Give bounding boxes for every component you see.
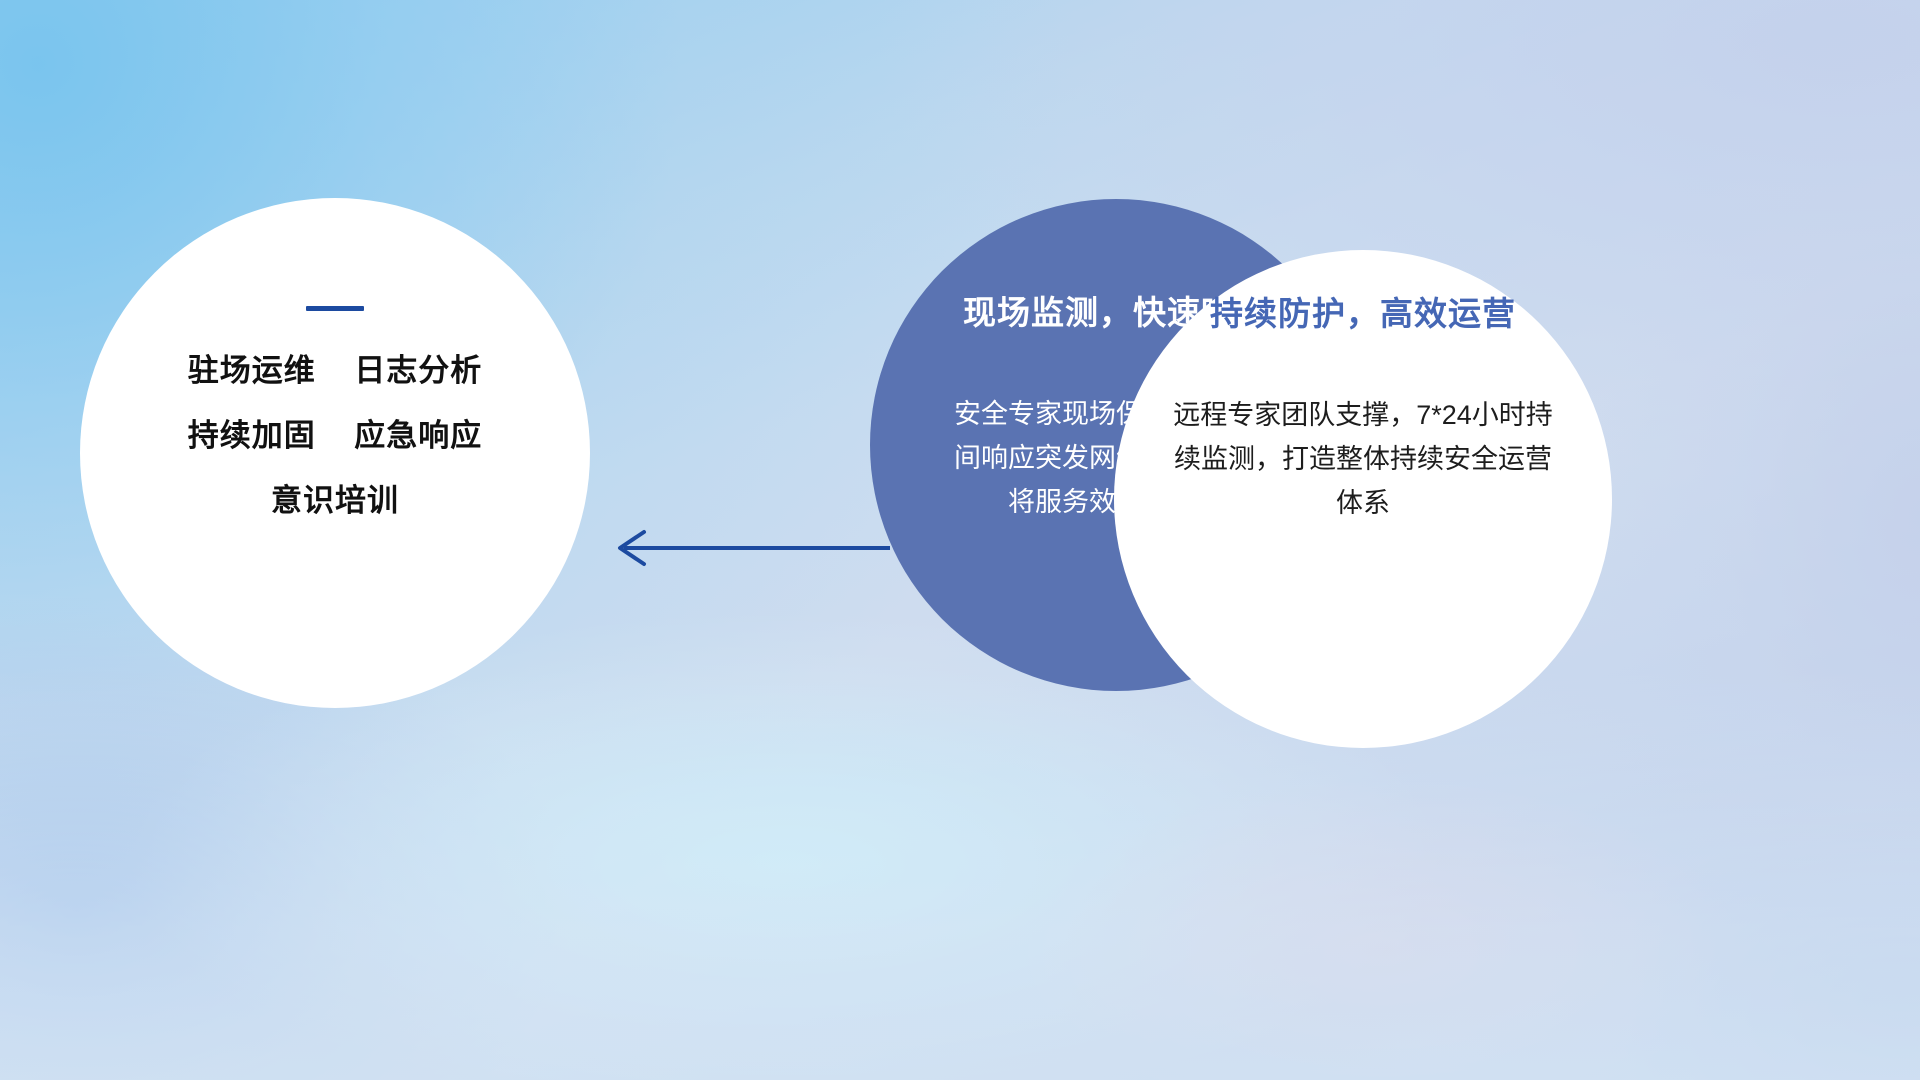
- left-card-line-1: 驻场运维 日志分析: [188, 355, 482, 386]
- slide-canvas: 驻场运维 日志分析 持续加固 应急响应 意识培训 现场监测，快速响应 安全专家现…: [0, 0, 1920, 1080]
- right-card-title: 持续防护，高效运营: [1210, 296, 1516, 332]
- left-card-line-3: 意识培训: [271, 485, 399, 516]
- arrow-icon: [600, 520, 890, 576]
- right-card[interactable]: 持续防护，高效运营 远程专家团队支撑，7*24小时持续监测，打造整体持续安全运营…: [1114, 250, 1612, 748]
- left-card[interactable]: 驻场运维 日志分析 持续加固 应急响应 意识培训: [80, 198, 590, 708]
- left-card-line-2: 持续加固 应急响应: [188, 420, 482, 451]
- right-card-body: 远程专家团队支撑，7*24小时持续监测，打造整体持续安全运营体系: [1163, 394, 1563, 525]
- connector-arrow: [600, 520, 890, 576]
- left-card-divider: [306, 306, 364, 311]
